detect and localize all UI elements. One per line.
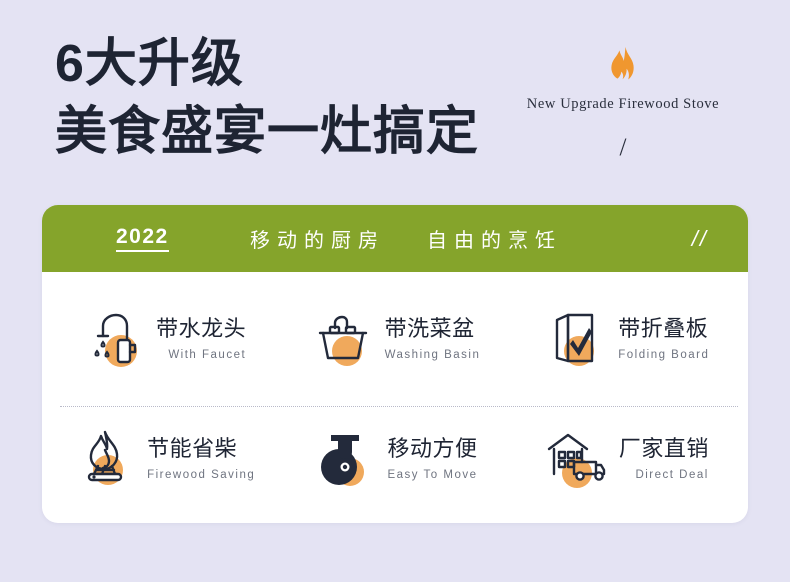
banner-slogan-mobile-kitchen: 移动的厨房 [250, 224, 385, 253]
feature-row: 带水龙头 With Faucet [42, 284, 748, 394]
feature-label-cn: 带折叠板 [618, 317, 708, 341]
feature-label-cn: 带洗菜盆 [385, 317, 475, 341]
feature-label-en: Firewood Saving [147, 469, 255, 481]
feature-item-easy-to-move[interactable]: 移动方便 Easy To Move [279, 426, 510, 492]
feature-labels: 带水龙头 With Faucet [156, 317, 246, 360]
feature-label-cn: 厂家直销 [619, 437, 709, 461]
headline-block: 6大升级 美食盛宴一灶搞定 [55, 38, 479, 158]
brand-slash-mark: / [508, 135, 738, 160]
faucet-icon [81, 306, 147, 372]
feature-item-direct-deal[interactable]: 厂家直销 Direct Deal [511, 426, 742, 492]
folding-board-icon [543, 306, 609, 372]
feature-labels: 带折叠板 Folding Board [618, 317, 709, 360]
brand-block: New Upgrade Firewood Stove / [508, 46, 738, 160]
feature-label-en: Folding Board [618, 349, 709, 361]
features-grid: 带水龙头 With Faucet [42, 284, 748, 523]
feature-labels: 带洗菜盆 Washing Basin [385, 317, 481, 360]
brand-tagline: New Upgrade Firewood Stove [508, 96, 738, 113]
feature-label-en: Washing Basin [385, 349, 481, 361]
headline-primary: 6大升级 [55, 38, 479, 90]
feature-item-folding-board[interactable]: 带折叠板 Folding Board [511, 306, 742, 372]
warehouse-truck-icon [544, 426, 610, 492]
features-divider [60, 406, 738, 408]
feature-label-cn: 带水龙头 [156, 317, 246, 341]
feature-labels: 厂家直销 Direct Deal [619, 437, 709, 480]
banner-year: 2022 [116, 226, 169, 252]
banner-slash-marks: // [692, 226, 708, 252]
feature-label-en: Direct Deal [635, 469, 708, 481]
header-section: 6大升级 美食盛宴一灶搞定 New Upgrade Firewood Stove… [0, 0, 790, 198]
feature-row: 节能省柴 Firewood Saving 移动方便 [42, 404, 748, 514]
card-banner: 2022 移动的厨房 自由的烹饪 // [42, 205, 748, 272]
feature-item-washing-basin[interactable]: 带洗菜盆 Washing Basin [279, 306, 510, 372]
headline-secondary: 美食盛宴一灶搞定 [55, 106, 479, 158]
feature-label-cn: 节能省柴 [147, 437, 237, 461]
feature-labels: 移动方便 Easy To Move [387, 437, 477, 480]
flame-icon [606, 46, 640, 90]
feature-item-firewood-saving[interactable]: 节能省柴 Firewood Saving [48, 426, 279, 492]
feature-label-cn: 移动方便 [387, 437, 477, 461]
campfire-icon [72, 426, 138, 492]
caster-wheel-icon [312, 426, 378, 492]
feature-item-faucet[interactable]: 带水龙头 With Faucet [48, 306, 279, 372]
feature-label-en: Easy To Move [387, 469, 477, 481]
feature-labels: 节能省柴 Firewood Saving [147, 437, 255, 480]
feature-label-en: With Faucet [168, 349, 246, 361]
banner-slogan-free-cooking: 自由的烹饪 [427, 224, 562, 253]
feature-card: 2022 移动的厨房 自由的烹饪 // [42, 205, 748, 523]
washing-basin-icon [310, 306, 376, 372]
